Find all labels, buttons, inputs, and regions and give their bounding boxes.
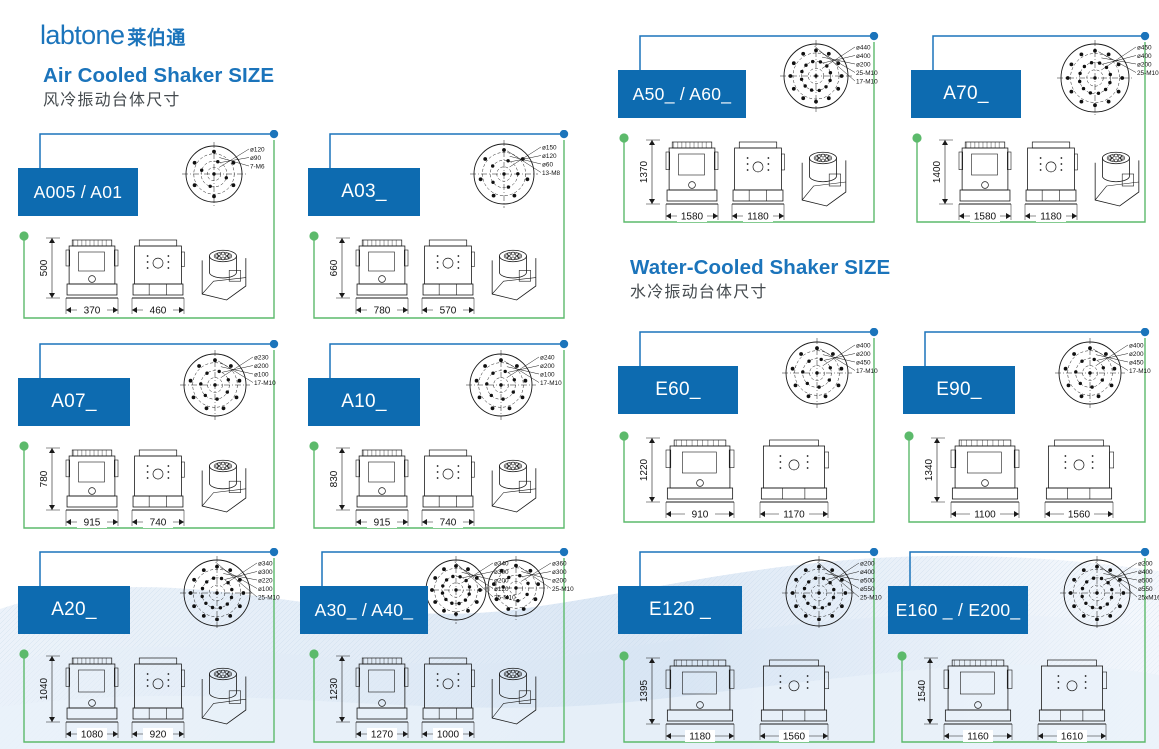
svg-text:ø200: ø200 (860, 561, 875, 568)
bolt-pattern-e60: ø400ø200ø45017-M10 (780, 336, 900, 410)
drawing-a50-a60: 137015801180 (632, 128, 878, 222)
svg-text:7-M6: 7-M6 (250, 164, 265, 171)
svg-text:1160: 1160 (967, 732, 989, 743)
svg-text:1370: 1370 (639, 160, 650, 183)
section-title-cn: 水冷振动台体尺寸 (630, 282, 890, 304)
product-card-e160-e200: E160 _ / E200_ø200ø400ø500ø55025xM16 深25… (888, 548, 1153, 744)
svg-text:ø450: ø450 (856, 360, 871, 367)
svg-text:1270: 1270 (371, 730, 394, 741)
svg-text:25xM16 深25: 25xM16 深25 (1138, 593, 1159, 602)
section-heading-air-cooled: Air Cooled Shaker SIZE 风冷振动台体尺寸 (43, 63, 274, 112)
bolt-pattern-a70: ø450ø400ø20025-M10 (1055, 38, 1159, 118)
svg-text:ø500: ø500 (860, 578, 875, 585)
connector-dot-blue (270, 130, 278, 138)
connector-dot-green (897, 651, 906, 660)
bolt-pattern-diagram: ø450ø400ø20025-M10 (1055, 38, 1159, 118)
technical-drawing-views: 780915740 (32, 436, 278, 528)
svg-text:25-M10: 25-M10 (856, 70, 878, 77)
brand-name-chinese: 莱伯通 (127, 29, 186, 48)
drawing-e120: 139511801560 (632, 646, 878, 742)
svg-text:740: 740 (150, 518, 167, 529)
bolt-pattern-diagram: ø240ø200ø10017-M10 (464, 348, 584, 422)
svg-text:17-M10: 17-M10 (1129, 368, 1151, 375)
product-card-a03: A03_ø150ø120ø6013-M8660780570 (300, 130, 572, 320)
svg-text:ø360: ø360 (552, 561, 567, 568)
svg-text:1080: 1080 (81, 730, 104, 741)
svg-text:1580: 1580 (974, 212, 997, 223)
svg-text:25-M10: 25-M10 (1137, 70, 1159, 77)
svg-text:ø200: ø200 (1137, 62, 1152, 69)
svg-text:915: 915 (84, 518, 101, 529)
svg-text:25-M10: 25-M10 (860, 595, 882, 602)
technical-drawing-views: 154011601610 (910, 646, 1149, 742)
svg-text:ø550: ø550 (860, 586, 875, 593)
connector-dot-blue (560, 340, 568, 348)
product-card-e60: E60_ø400ø200ø45017-M1012209101170 (610, 328, 882, 524)
svg-text:ø450: ø450 (1129, 360, 1144, 367)
bolt-pattern-a10: ø240ø200ø10017-M10 (464, 348, 584, 422)
bolt-pattern-diagram: ø400ø200ø45017-M10 (780, 336, 900, 410)
svg-text:370: 370 (84, 306, 101, 317)
svg-text:920: 920 (150, 730, 167, 741)
bolt-pattern-diagram: ø440ø400ø20025-M1017-M10 (778, 38, 900, 114)
drawing-e60: 12209101170 (632, 426, 878, 520)
connector-dot-blue (560, 130, 568, 138)
technical-drawing-views: 139511801560 (632, 646, 878, 742)
svg-text:660: 660 (329, 259, 340, 276)
bolt-pattern-a03: ø150ø120ø6013-M8 (468, 138, 586, 210)
technical-drawing-views: 10401080920 (32, 644, 278, 740)
svg-text:ø400: ø400 (1137, 53, 1152, 60)
model-label-a30-a40[interactable]: A30_ / A40_ (300, 586, 428, 634)
product-card-a70: A70_ø450ø400ø20025-M10140015801180 (903, 32, 1153, 224)
svg-text:1340: 1340 (924, 458, 935, 481)
bolt-pattern-a005-a01: ø120ø907-M6 (180, 140, 294, 208)
section-title-en: Air Cooled Shaker SIZE (43, 63, 274, 89)
svg-text:ø100: ø100 (258, 586, 273, 593)
svg-text:ø200: ø200 (552, 578, 567, 585)
svg-text:1220: 1220 (639, 458, 650, 481)
brand-logo: labtone 莱伯通 (40, 22, 186, 49)
technical-drawing-views: 140015801180 (925, 128, 1149, 222)
model-label-a50-a60[interactable]: A50_ / A60_ (618, 70, 746, 118)
section-title-en: Water-Cooled Shaker SIZE (630, 255, 890, 281)
technical-drawing-views: 830915740 (322, 436, 568, 528)
svg-text:ø200: ø200 (540, 363, 555, 370)
drawing-a07: 780915740 (32, 436, 278, 528)
svg-text:ø100: ø100 (540, 372, 555, 379)
bolt-pattern-diagram: ø360ø300ø20025-M10 (482, 554, 596, 622)
connector-dot-green (309, 231, 318, 240)
drawing-a30-a40: 123012701000 (322, 644, 568, 740)
product-card-a07: A07_ø230ø200ø10017-M10780915740 (10, 340, 282, 530)
svg-text:13-M8: 13-M8 (542, 170, 561, 177)
svg-text:1580: 1580 (681, 212, 704, 223)
drawing-a70: 140015801180 (925, 128, 1149, 222)
svg-text:ø400: ø400 (860, 569, 875, 576)
svg-text:460: 460 (150, 306, 167, 317)
svg-text:1560: 1560 (1068, 510, 1091, 521)
drawing-a005-a01: 500370460 (32, 226, 278, 316)
bolt-pattern-a20: ø340ø300ø220ø10025-M10 (178, 554, 302, 632)
connector-dot-green (912, 133, 921, 142)
product-card-e120: E120 _ø200ø400ø500ø55025-M10139511801560 (610, 548, 882, 744)
bolt-pattern-secondary-a30-a40: ø360ø300ø20025-M10 (482, 554, 596, 622)
model-label-a03[interactable]: A03_ (308, 168, 420, 216)
bolt-pattern-diagram: ø230ø200ø10017-M10 (178, 348, 298, 422)
model-label-a10[interactable]: A10_ (308, 378, 420, 426)
svg-text:1100: 1100 (974, 510, 996, 521)
bolt-pattern-diagram: ø340ø300ø220ø10025-M10 (178, 554, 302, 632)
connector-dot-green (619, 431, 628, 440)
svg-text:ø60: ø60 (542, 162, 553, 169)
model-label-e60[interactable]: E60_ (618, 366, 738, 414)
section-heading-water-cooled: Water-Cooled Shaker SIZE 水冷振动台体尺寸 (630, 255, 890, 304)
svg-text:25-M10: 25-M10 (258, 595, 280, 602)
connector-dot-green (309, 441, 318, 450)
svg-text:1180: 1180 (747, 212, 769, 223)
technical-drawing-views: 137015801180 (632, 128, 878, 222)
svg-text:ø400: ø400 (856, 53, 871, 60)
svg-text:ø150: ø150 (542, 145, 557, 152)
connector-dot-green (619, 133, 628, 142)
svg-text:ø200: ø200 (856, 62, 871, 69)
svg-text:ø100: ø100 (254, 372, 269, 379)
model-label-e90[interactable]: E90_ (903, 366, 1015, 414)
connector-dot-blue (1141, 328, 1149, 336)
svg-text:ø90: ø90 (250, 155, 261, 162)
bolt-pattern-e120: ø200ø400ø500ø55025-M10 (780, 554, 904, 632)
technical-drawing-views: 123012701000 (322, 644, 568, 740)
svg-text:1000: 1000 (437, 730, 460, 741)
product-card-e90: E90_ø400ø200ø45017-M10134011001560 (895, 328, 1153, 524)
drawing-a03: 660780570 (322, 226, 568, 316)
model-label-a07[interactable]: A07_ (18, 378, 130, 426)
svg-text:17-M10: 17-M10 (856, 79, 878, 86)
svg-text:1560: 1560 (783, 732, 806, 743)
connector-dot-green (19, 649, 28, 658)
model-label-a20[interactable]: A20_ (18, 586, 130, 634)
connector-dot-green (309, 649, 318, 658)
brand-name-latin: labtone (40, 22, 124, 49)
svg-text:1540: 1540 (917, 679, 928, 702)
svg-text:780: 780 (39, 470, 50, 487)
connector-dot-green (619, 651, 628, 660)
model-label-e120[interactable]: E120 _ (618, 586, 742, 634)
technical-drawing-views: 12209101170 (632, 426, 878, 520)
svg-text:1610: 1610 (1061, 732, 1084, 743)
technical-drawing-views: 660780570 (322, 226, 568, 316)
svg-text:910: 910 (692, 510, 709, 521)
svg-text:740: 740 (440, 518, 457, 529)
svg-text:ø230: ø230 (254, 355, 269, 362)
svg-text:ø120: ø120 (542, 153, 557, 160)
product-card-a20: A20_ø340ø300ø220ø10025-M1010401080920 (10, 548, 282, 744)
svg-text:1180: 1180 (689, 732, 711, 743)
technical-drawing-views: 500370460 (32, 226, 278, 316)
section-title-cn: 风冷振动台体尺寸 (43, 90, 274, 112)
drawing-e160-e200: 154011601610 (910, 646, 1149, 742)
svg-text:ø400: ø400 (1138, 569, 1153, 576)
svg-text:ø340: ø340 (258, 561, 273, 568)
svg-text:ø200: ø200 (856, 351, 871, 358)
bolt-pattern-e90: ø400ø200ø45017-M10 (1053, 336, 1159, 410)
model-label-a70[interactable]: A70_ (911, 70, 1021, 118)
svg-text:25-M10: 25-M10 (552, 586, 574, 593)
bolt-pattern-diagram: ø120ø907-M6 (180, 140, 294, 208)
connector-dot-blue (270, 340, 278, 348)
product-card-a10: A10_ø240ø200ø10017-M10830915740 (300, 340, 572, 530)
svg-text:ø440: ø440 (856, 45, 871, 52)
drawing-e90: 134011001560 (917, 426, 1149, 520)
svg-text:17-M10: 17-M10 (856, 368, 878, 375)
bolt-pattern-e160-e200: ø200ø400ø500ø55025xM16 深25 (1058, 554, 1159, 632)
model-label-a005-a01[interactable]: A005 / A01 (18, 168, 138, 216)
svg-text:1170: 1170 (783, 510, 805, 521)
connector-dot-green (19, 231, 28, 240)
svg-text:ø300: ø300 (258, 569, 273, 576)
svg-text:ø400: ø400 (856, 343, 871, 350)
drawing-a20: 10401080920 (32, 644, 278, 740)
svg-text:570: 570 (440, 306, 457, 317)
technical-drawing-views: 134011001560 (917, 426, 1149, 520)
svg-text:1395: 1395 (639, 679, 650, 702)
svg-text:ø200: ø200 (254, 363, 269, 370)
product-card-a30-a40: A30_ / A40_ø340ø300ø200ø12025-M10ø360ø30… (300, 548, 572, 744)
model-label-e160-e200[interactable]: E160 _ / E200_ (888, 586, 1028, 634)
svg-text:500: 500 (39, 259, 50, 276)
svg-text:ø200: ø200 (1129, 351, 1144, 358)
product-card-a50-a60: A50_ / A60_ø440ø400ø20025-M1017-M1013701… (610, 32, 882, 224)
svg-text:ø400: ø400 (1129, 343, 1144, 350)
svg-text:ø450: ø450 (1137, 45, 1152, 52)
svg-text:ø200: ø200 (1138, 561, 1153, 568)
svg-text:ø120: ø120 (250, 147, 265, 154)
svg-text:ø240: ø240 (540, 355, 555, 362)
svg-text:1040: 1040 (39, 677, 50, 700)
svg-text:ø550: ø550 (1138, 586, 1153, 593)
svg-text:830: 830 (329, 470, 340, 487)
bolt-pattern-a50-a60: ø440ø400ø20025-M1017-M10 (778, 38, 900, 114)
product-card-a005-a01: A005 / A01ø120ø907-M6500370460 (10, 130, 282, 320)
svg-text:ø300: ø300 (552, 569, 567, 576)
svg-text:17-M10: 17-M10 (540, 380, 562, 387)
svg-text:1180: 1180 (1040, 212, 1062, 223)
connector-dot-blue (870, 328, 878, 336)
drawing-a10: 830915740 (322, 436, 568, 528)
connector-dot-green (19, 441, 28, 450)
bolt-pattern-a07: ø230ø200ø10017-M10 (178, 348, 298, 422)
bolt-pattern-diagram: ø200ø400ø500ø55025xM16 深25 (1058, 554, 1159, 632)
svg-text:ø500: ø500 (1138, 578, 1153, 585)
svg-text:1230: 1230 (329, 677, 340, 700)
catalog-page: labtone 莱伯通 Air Cooled Shaker SIZE 风冷振动台… (0, 0, 1159, 749)
connector-dot-green (904, 431, 913, 440)
svg-text:ø220: ø220 (258, 578, 273, 585)
svg-text:1400: 1400 (932, 160, 943, 183)
svg-text:17-M10: 17-M10 (254, 380, 276, 387)
bolt-pattern-diagram: ø400ø200ø45017-M10 (1053, 336, 1159, 410)
svg-text:780: 780 (374, 306, 391, 317)
bolt-pattern-diagram: ø150ø120ø6013-M8 (468, 138, 586, 210)
svg-text:915: 915 (374, 518, 391, 529)
bolt-pattern-diagram: ø200ø400ø500ø55025-M10 (780, 554, 904, 632)
